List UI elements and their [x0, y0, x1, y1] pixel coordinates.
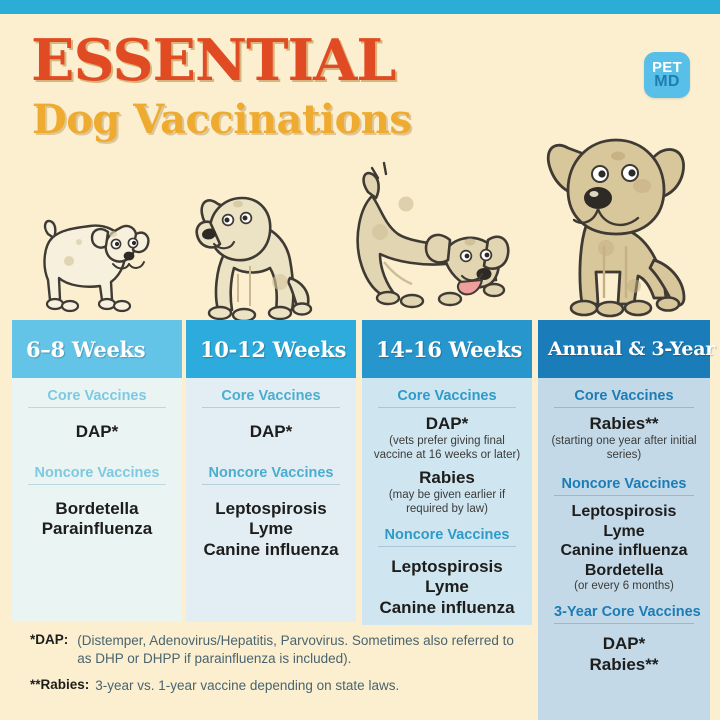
column-annual-3-year[interactable]: Annual & 3-Year Core Vaccines Rabies** (… [538, 320, 710, 720]
footnote-rabies-text: 3-year vs. 1-year vaccine depending on s… [95, 677, 399, 695]
vaccine-item: Lyme [192, 519, 350, 540]
vaccine-item: Leptospirosis [192, 499, 350, 520]
column-body-10-12-weeks: Core Vaccines DAP* Noncore Vaccines Lept… [186, 378, 356, 622]
column-body-6-8-weeks: Core Vaccines DAP* Noncore Vaccines Bord… [12, 378, 182, 622]
section-heading-noncore: Noncore Vaccines [28, 465, 166, 485]
section-heading-core: Core Vaccines [554, 388, 694, 408]
section-heading-core: Core Vaccines [202, 388, 340, 408]
footnote-dap-text: (Distemper, Adenovirus/Hepatitis, Parvov… [77, 632, 530, 668]
page-title: ESSENTIAL [31, 32, 395, 89]
footnotes: *DAP: (Distemper, Adenovirus/Hepatitis, … [30, 632, 530, 694]
column-header-annual-3-year: Annual & 3-Year [538, 320, 710, 378]
vaccine-item: Leptospirosis [544, 502, 704, 522]
vaccine-item: DAP* [18, 422, 176, 443]
vaccine-note: (vets prefer giving final vaccine at 16 … [368, 435, 526, 463]
vaccine-note: (may be given earlier if required by law… [368, 489, 526, 517]
vaccine-item: Lyme [544, 522, 704, 542]
header: ESSENTIAL Dog Vaccinations PET MD [0, 14, 720, 169]
section-heading-core: Core Vaccines [28, 388, 166, 408]
section-heading-noncore: Noncore Vaccines [554, 476, 694, 496]
dog-play-bow-icon [350, 156, 515, 326]
vaccine-item: DAP* [544, 634, 704, 655]
footnote-dap-label: *DAP: [30, 632, 68, 647]
footnote-rabies: **Rabies: 3-year vs. 1-year vaccine depe… [30, 677, 530, 695]
section-heading-3-year-core: 3-Year Core Vaccines [554, 604, 694, 624]
vaccine-note: (or every 6 months) [544, 580, 704, 594]
page-subtitle: Dog Vaccinations [32, 100, 411, 140]
logo-md-text: MD [654, 75, 679, 90]
puppy-standing-icon [34, 212, 152, 322]
dog-sitting-icon [190, 182, 330, 327]
section-heading-noncore: Noncore Vaccines [378, 527, 516, 547]
top-banner [0, 0, 720, 14]
section-heading-core: Core Vaccines [378, 388, 516, 408]
vaccine-item: Leptospirosis [368, 557, 526, 578]
vaccine-item: Parainfluenza [18, 519, 176, 540]
vaccine-item: Rabies** [544, 655, 704, 676]
column-header-10-12-weeks: 10-12 Weeks [186, 320, 356, 378]
column-header-14-16-weeks: 14-16 Weeks [362, 320, 532, 378]
footnote-dap: *DAP: (Distemper, Adenovirus/Hepatitis, … [30, 632, 530, 668]
vaccine-item: DAP* [368, 414, 526, 435]
vaccine-item: Bordetella [544, 561, 704, 581]
column-body-14-16-weeks: Core Vaccines DAP* (vets prefer giving f… [362, 378, 532, 625]
column-10-12-weeks[interactable]: 10-12 Weeks Core Vaccines DAP* Noncore V… [186, 320, 356, 622]
vaccine-item: Rabies [368, 468, 526, 489]
vaccine-item: Canine influenza [544, 541, 704, 561]
vaccine-item: Canine influenza [192, 540, 350, 561]
vaccine-item: Rabies** [544, 414, 704, 435]
column-6-8-weeks[interactable]: 6–8 Weeks Core Vaccines DAP* Noncore Vac… [12, 320, 182, 622]
footnote-rabies-label: **Rabies: [30, 677, 89, 692]
column-header-6-8-weeks: 6–8 Weeks [12, 320, 182, 378]
vaccine-item: Lyme [368, 577, 526, 598]
vaccine-item: Canine influenza [368, 598, 526, 619]
vaccine-item: Bordetella [18, 499, 176, 520]
column-14-16-weeks[interactable]: 14-16 Weeks Core Vaccines DAP* (vets pre… [362, 320, 532, 625]
vaccine-note: (starting one year after initial series) [544, 435, 704, 463]
column-body-annual-3-year: Core Vaccines Rabies** (starting one yea… [538, 378, 710, 720]
petmd-logo[interactable]: PET MD [644, 52, 690, 98]
section-heading-noncore: Noncore Vaccines [202, 465, 340, 485]
vaccine-item: DAP* [192, 422, 350, 443]
